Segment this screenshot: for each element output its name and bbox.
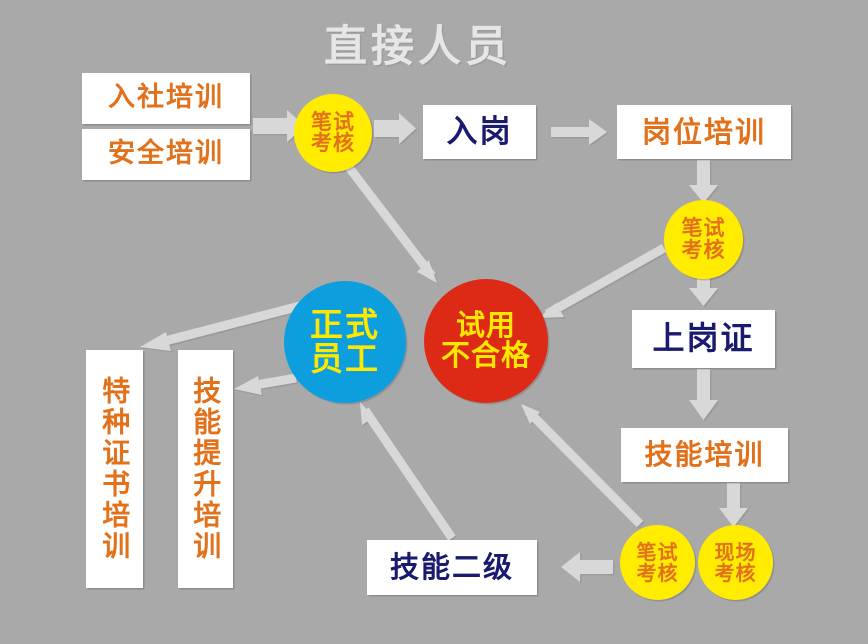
exam1-line1: 笔试 — [311, 112, 355, 133]
arrow-formal-employee-to-skill-upgrade — [234, 376, 296, 395]
node-onsite-exam-label: 现场 考核 — [715, 542, 757, 583]
node-written-exam-3[interactable]: 笔试 考核 — [620, 525, 695, 600]
node-safety-training[interactable]: 安全培训 — [82, 129, 250, 180]
node-work-permit-label: 上岗证 — [652, 322, 754, 356]
node-skill-upgrade-training[interactable]: 技能提升培训 — [178, 350, 233, 588]
node-skill-training[interactable]: 技能培训 — [621, 428, 788, 482]
exam2-line2: 考核 — [682, 240, 726, 261]
arrow-formal-employee-to-special-cert — [140, 306, 300, 351]
arrow-exam1-to-probation-failed — [348, 166, 437, 283]
arrow-work-permit-to-skill-training — [689, 369, 718, 420]
flowchart-canvas: 直接人员 — [0, 0, 868, 644]
node-special-cert-training-label: 特种证书培训 — [100, 376, 129, 562]
formal-line1: 正式 — [310, 308, 380, 342]
node-written-exam-1[interactable]: 笔试 考核 — [294, 94, 372, 172]
node-special-cert-training[interactable]: 特种证书培训 — [86, 350, 143, 588]
node-formal-employee[interactable]: 正式 员工 — [284, 281, 406, 403]
node-written-exam-3-label: 笔试 考核 — [637, 542, 679, 583]
node-entry-training-label: 入社培训 — [108, 84, 224, 112]
node-post-training-label: 岗位培训 — [642, 117, 766, 147]
exam1-line2: 考核 — [311, 133, 355, 154]
arrow-onboard-to-post-training — [551, 119, 607, 145]
node-skill-level-2-label: 技能二级 — [390, 552, 514, 582]
node-entry-training[interactable]: 入社培训 — [82, 73, 250, 124]
onsite-line2: 考核 — [715, 563, 757, 583]
node-written-exam-2[interactable]: 笔试 考核 — [664, 200, 743, 279]
arrow-exam2-to-probation-failed — [539, 248, 664, 318]
arrow-exam3-to-skill-level2 — [561, 552, 613, 582]
node-post-training[interactable]: 岗位培训 — [617, 105, 791, 159]
node-skill-level-2[interactable]: 技能二级 — [367, 540, 537, 595]
node-work-permit[interactable]: 上岗证 — [632, 310, 775, 368]
node-onsite-exam[interactable]: 现场 考核 — [698, 525, 773, 600]
arrow-skill-level2-to-formal-employee — [360, 402, 452, 538]
probation-line2: 不合格 — [441, 341, 531, 371]
exam3-line2: 考核 — [637, 563, 679, 583]
exam2-line1: 笔试 — [682, 218, 726, 239]
node-skill-training-label: 技能培训 — [644, 440, 764, 469]
arrow-exam1-to-onboard — [374, 113, 416, 144]
arrow-skill-training-to-onsite-exam — [719, 483, 748, 527]
node-probation-failed-label: 试用 不合格 — [441, 311, 531, 370]
exam3-line1: 笔试 — [637, 542, 679, 562]
probation-line1: 试用 — [441, 311, 531, 341]
arrow-post-training-to-exam2 — [689, 160, 718, 203]
node-written-exam-1-label: 笔试 考核 — [311, 112, 355, 155]
node-probation-failed[interactable]: 试用 不合格 — [424, 279, 548, 403]
node-formal-employee-label: 正式 员工 — [310, 308, 380, 375]
node-skill-upgrade-training-label: 技能提升培训 — [191, 376, 220, 562]
node-onboard[interactable]: 入岗 — [423, 105, 536, 159]
node-written-exam-2-label: 笔试 考核 — [682, 218, 726, 261]
node-onboard-label: 入岗 — [447, 116, 513, 149]
node-safety-training-label: 安全培训 — [108, 140, 224, 168]
formal-line2: 员工 — [310, 342, 380, 376]
onsite-line1: 现场 — [715, 542, 757, 562]
page-title: 直接人员 — [324, 12, 512, 74]
